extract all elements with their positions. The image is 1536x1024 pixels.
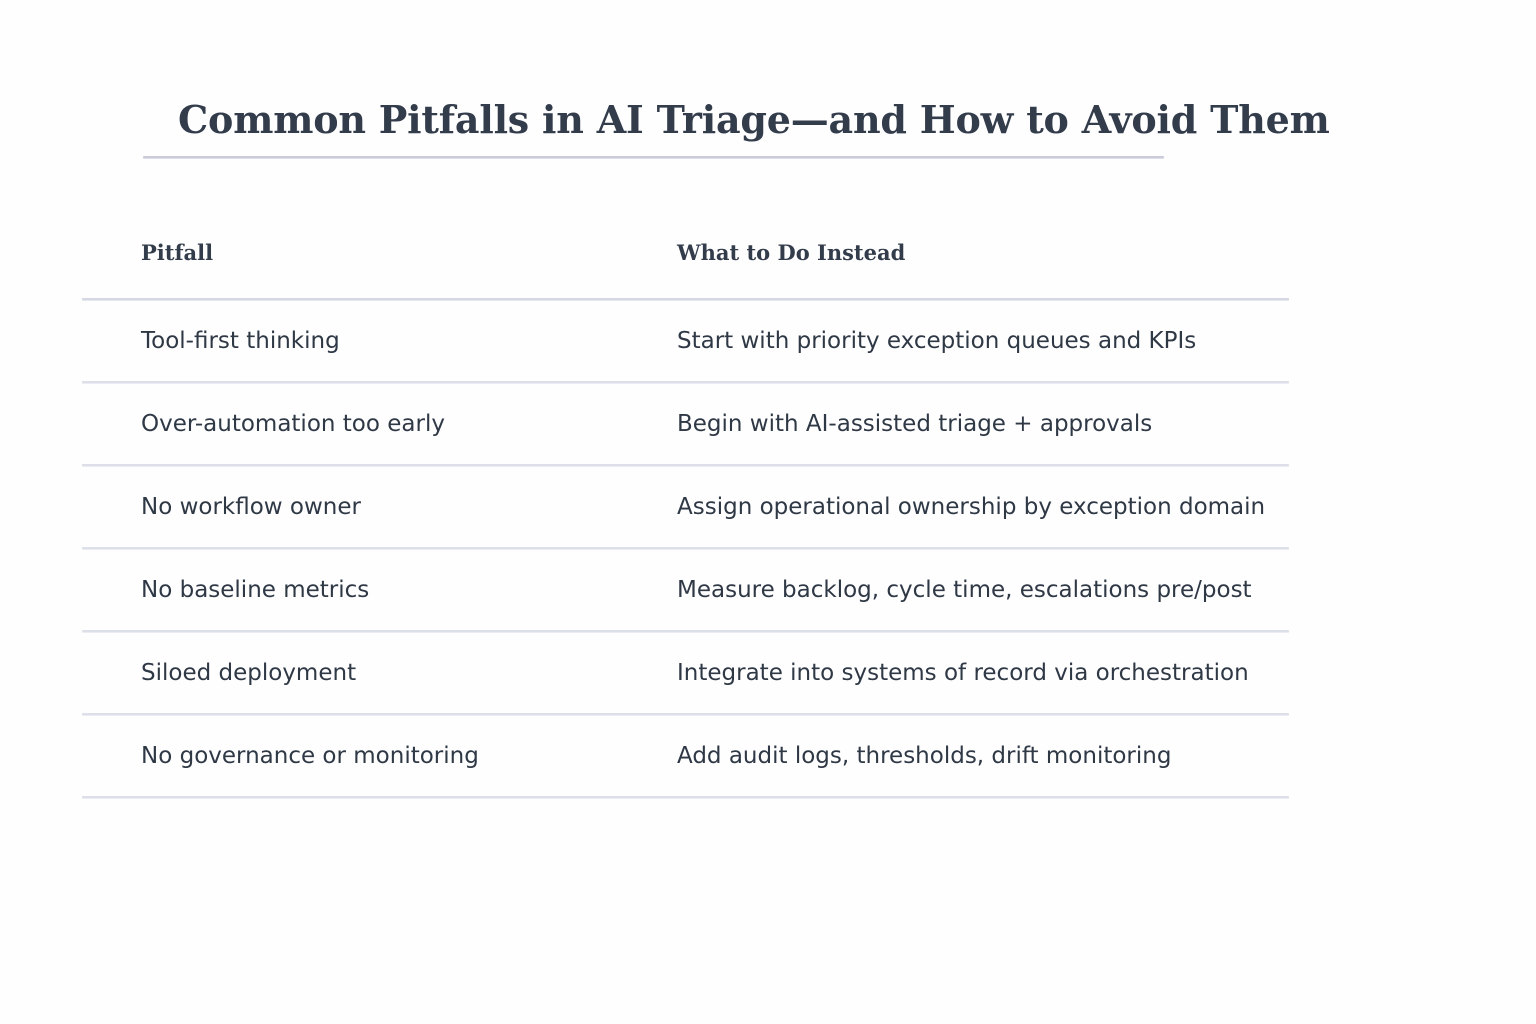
cell-what-to-do-text: Assign operational ownership by exceptio… [677, 494, 1265, 520]
cell-pitfall: Tool-first thinking [82, 327, 677, 356]
cell-what-to-do: Begin with AI-assisted triage + approval… [677, 410, 1289, 439]
cell-what-to-do: Start with priority exception queues and… [677, 327, 1289, 356]
cell-what-to-do-text: Add audit logs, thresholds, drift monito… [677, 743, 1171, 769]
cell-what-to-do-text: Integrate into systems of record via orc… [677, 660, 1249, 686]
cell-what-to-do-text: Start with priority exception queues and… [677, 328, 1196, 354]
title-block: Common Pitfalls in AI Triage—and How to … [143, 96, 1165, 159]
cell-pitfall-text: No baseline metrics [141, 577, 369, 603]
cell-what-to-do-text: Begin with AI-assisted triage + approval… [677, 411, 1152, 437]
table-row: No workflow owner Assign operational own… [82, 467, 1289, 547]
cell-pitfall-text: No workflow owner [141, 494, 361, 520]
cell-what-to-do: Assign operational ownership by exceptio… [677, 493, 1289, 522]
cell-pitfall: No workflow owner [82, 493, 677, 522]
table-row: Tool-first thinking Start with priority … [82, 301, 1289, 381]
cell-pitfall-text: Tool-first thinking [141, 328, 340, 354]
title-divider [143, 156, 1164, 159]
column-header-what-to-do: What to Do Instead [677, 240, 905, 265]
column-header-what-to-do-cell: What to Do Instead [677, 240, 1289, 265]
slide-canvas: Common Pitfalls in AI Triage—and How to … [0, 0, 1536, 1024]
cell-pitfall-text: No governance or monitoring [141, 743, 479, 769]
cell-pitfall-text: Over-automation too early [141, 411, 445, 437]
table-row: Over-automation too early Begin with AI-… [82, 384, 1289, 464]
table-header-row: Pitfall What to Do Instead [82, 240, 1289, 298]
cell-what-to-do: Add audit logs, thresholds, drift monito… [677, 742, 1289, 771]
column-header-pitfall: Pitfall [141, 240, 213, 265]
table-row: No baseline metrics Measure backlog, cyc… [82, 550, 1289, 630]
table-row: No governance or monitoring Add audit lo… [82, 716, 1289, 796]
page-title: Common Pitfalls in AI Triage—and How to … [143, 96, 1165, 144]
cell-pitfall: No baseline metrics [82, 576, 677, 605]
cell-pitfall-text: Siloed deployment [141, 660, 356, 686]
column-header-pitfall-cell: Pitfall [82, 240, 677, 265]
table-row: Siloed deployment Integrate into systems… [82, 633, 1289, 713]
cell-what-to-do-text: Measure backlog, cycle time, escalations… [677, 577, 1252, 603]
pitfalls-table: Pitfall What to Do Instead Tool-first th… [82, 240, 1289, 799]
cell-pitfall: Over-automation too early [82, 410, 677, 439]
cell-what-to-do: Measure backlog, cycle time, escalations… [677, 576, 1289, 605]
cell-pitfall: Siloed deployment [82, 659, 677, 688]
cell-pitfall: No governance or monitoring [82, 742, 677, 771]
cell-what-to-do: Integrate into systems of record via orc… [677, 659, 1289, 688]
table-bottom-divider [82, 796, 1289, 799]
